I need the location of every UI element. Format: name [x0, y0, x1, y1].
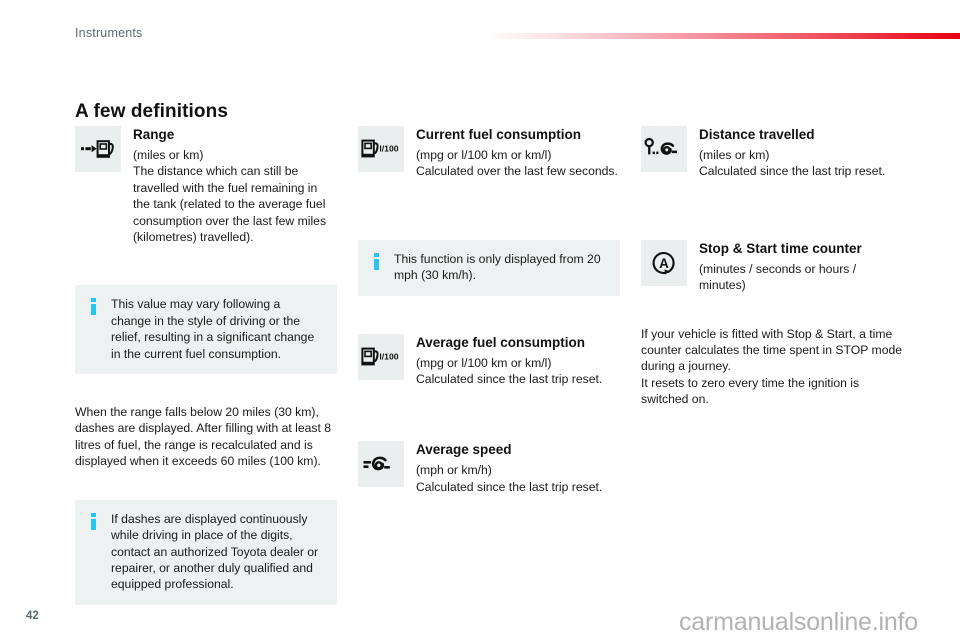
- fuel-pump-l100-icon: l/100: [358, 334, 404, 380]
- spacer: [358, 389, 620, 427]
- spacer: [358, 220, 620, 240]
- definition-units: (minutes / seconds or hours / minutes): [699, 261, 903, 294]
- spacer: [75, 374, 337, 404]
- definition-description: Calculated since the last trip reset.: [699, 163, 903, 179]
- definition-description: Calculated over the last few seconds.: [416, 163, 620, 179]
- definition-title: Average fuel consumption: [416, 334, 620, 351]
- watermark: carmanualsonline.info: [679, 608, 918, 637]
- note-text: If dashes are displayed continuously whi…: [111, 511, 323, 593]
- svg-text:A: A: [659, 256, 669, 271]
- definition-distance-travelled: Distance travelled (miles or km) Calcula…: [641, 126, 903, 180]
- svg-text:l/100: l/100: [379, 351, 398, 361]
- right-column: Distance travelled (miles or km) Calcula…: [641, 126, 903, 408]
- spacer: [641, 296, 903, 326]
- spacer: [358, 296, 620, 334]
- page-number: 42: [26, 610, 39, 622]
- definition-units: (mpg or l/100 km or km/l): [416, 147, 620, 163]
- definition-body: Average fuel consumption (mpg or l/100 k…: [416, 334, 620, 388]
- speedometer-icon: [358, 441, 404, 487]
- definition-stop-start-counter: A Stop & Start time counter (minutes / s…: [641, 240, 903, 294]
- middle-column: l/100 Current fuel consumption (mpg or l…: [358, 126, 620, 497]
- definition-average-speed: Average speed (mph or km/h) Calculated s…: [358, 441, 620, 495]
- definition-units: (miles or km): [699, 147, 903, 163]
- definition-units: (miles or km): [133, 147, 337, 163]
- definition-units: (mph or km/h): [416, 462, 620, 478]
- definition-title: Current fuel consumption: [416, 126, 620, 143]
- definition-description: Calculated since the last trip reset.: [416, 371, 620, 387]
- chapter-label: Instruments: [75, 26, 143, 40]
- definition-title: Average speed: [416, 441, 620, 458]
- paragraph-stop-start-2: It resets to zero every time the ignitio…: [641, 375, 903, 408]
- note-text: This value may vary following a change i…: [111, 296, 323, 362]
- note-value-may-vary: This value may vary following a change i…: [75, 285, 337, 374]
- info-icon: [374, 253, 379, 270]
- fuel-pump-l100-icon: l/100: [358, 126, 404, 172]
- definition-title: Range: [133, 126, 337, 143]
- paragraph-stop-start-1: If your vehicle is fitted with Stop & St…: [641, 326, 903, 375]
- definition-body: Distance travelled (miles or km) Calcula…: [699, 126, 903, 180]
- stop-start-a-icon: A: [641, 240, 687, 286]
- definition-body: Average speed (mph or km/h) Calculated s…: [416, 441, 620, 495]
- header-gradient-rule: [483, 33, 960, 39]
- page-title: A few definitions: [75, 101, 228, 123]
- info-icon: [91, 298, 96, 315]
- spacer: [641, 220, 903, 240]
- paragraph-range-dashes: When the range falls below 20 miles (30 …: [75, 404, 337, 470]
- definition-body: Stop & Start time counter (minutes / sec…: [699, 240, 903, 294]
- definition-title: Stop & Start time counter: [699, 240, 903, 257]
- spacer: [75, 470, 337, 500]
- definition-range: Range (miles or km) The distance which c…: [75, 126, 337, 245]
- definition-description: Calculated since the last trip reset.: [416, 479, 620, 495]
- definition-current-fuel-consumption: l/100 Current fuel consumption (mpg or l…: [358, 126, 620, 180]
- arrow-to-fuel-pump-icon: [75, 126, 121, 172]
- definition-title: Distance travelled: [699, 126, 903, 143]
- spacer: [641, 182, 903, 220]
- svg-text:l/100: l/100: [379, 144, 398, 154]
- spacer: [75, 247, 337, 285]
- definition-units: (mpg or l/100 km or km/l): [416, 355, 620, 371]
- definition-body: Current fuel consumption (mpg or l/100 k…: [416, 126, 620, 180]
- note-text: This function is only displayed from 20 …: [394, 251, 606, 284]
- note-dashes-continuous: If dashes are displayed continuously whi…: [75, 500, 337, 605]
- page-header: Instruments: [0, 0, 960, 52]
- start-marker-to-speedometer-icon: [641, 126, 687, 172]
- spacer: [358, 182, 620, 220]
- definition-description: The distance which can still be travelle…: [133, 163, 337, 245]
- spacer: [358, 427, 620, 441]
- definition-average-fuel-consumption: l/100 Average fuel consumption (mpg or l…: [358, 334, 620, 388]
- info-icon: [91, 513, 96, 530]
- left-column: Range (miles or km) The distance which c…: [75, 126, 337, 605]
- definition-body: Range (miles or km) The distance which c…: [133, 126, 337, 245]
- note-speed-threshold: This function is only displayed from 20 …: [358, 240, 620, 296]
